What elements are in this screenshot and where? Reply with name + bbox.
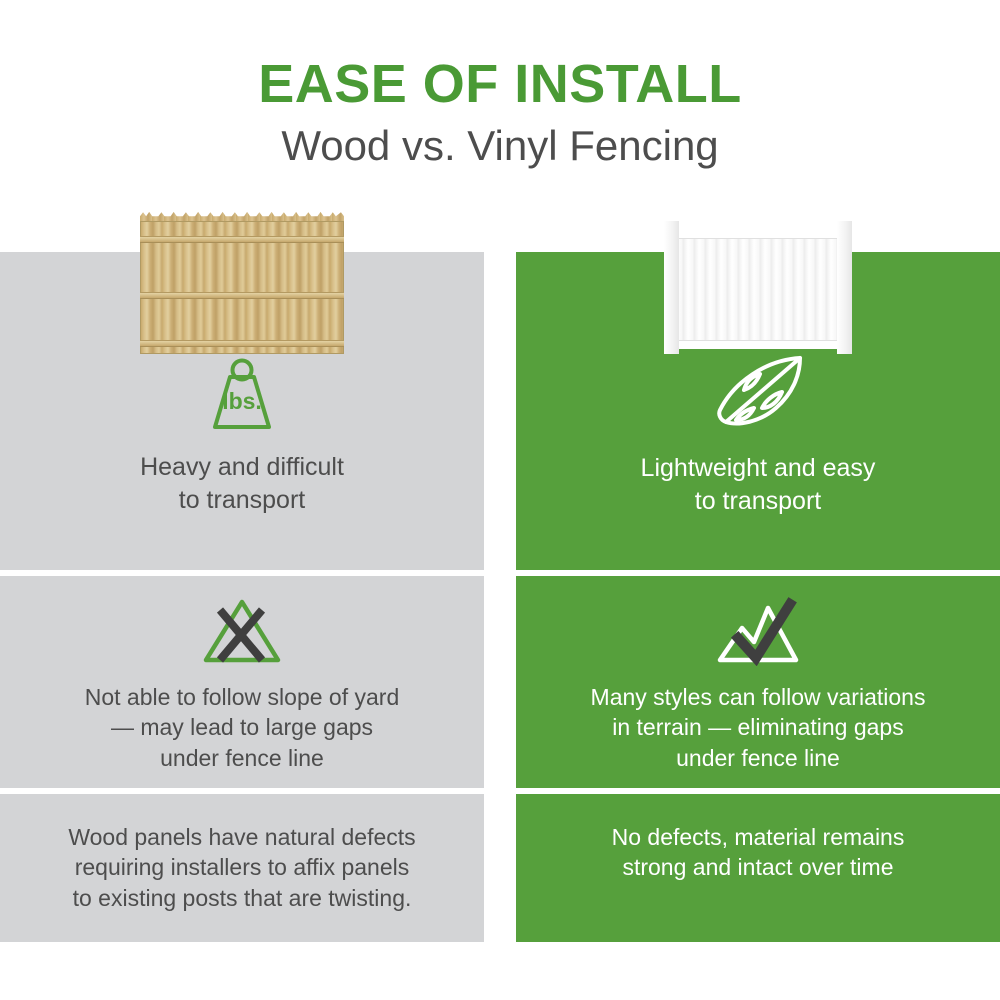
wood-row-2: Not able to follow slope of yard — may l… — [0, 576, 484, 788]
mountain-check-icon — [712, 594, 804, 666]
wood-row-3: Wood panels have natural defects requiri… — [0, 794, 484, 942]
column-wood: lbs. Heavy and difficult to transport No… — [0, 252, 484, 942]
vinyl-row-2-text: Many styles can follow variations in ter… — [591, 682, 926, 773]
infographic-page: EASE OF INSTALL Wood vs. Vinyl Fencing l… — [0, 0, 1000, 1000]
column-vinyl: Lightweight and easy to transport Many s… — [516, 252, 1000, 942]
feather-icon — [704, 352, 812, 434]
vinyl-row-3: No defects, material remains strong and … — [516, 794, 1000, 942]
page-subtitle: Wood vs. Vinyl Fencing — [0, 123, 1000, 169]
page-title: EASE OF INSTALL — [0, 56, 1000, 113]
vinyl-row-3-text: No defects, material remains strong and … — [612, 822, 905, 883]
vinyl-row-1-text: Lightweight and easy to transport — [641, 452, 876, 518]
header: EASE OF INSTALL Wood vs. Vinyl Fencing — [0, 0, 1000, 169]
wood-row-1-text: Heavy and difficult to transport — [140, 451, 344, 517]
wood-row-3-text: Wood panels have natural defects requiri… — [68, 822, 415, 913]
wood-row-1: lbs. Heavy and difficult to transport — [0, 252, 484, 570]
weight-icon-label: lbs. — [222, 388, 262, 414]
vinyl-post-cap-right — [833, 211, 856, 221]
wood-rail-top — [140, 236, 344, 243]
triangle-x-icon — [200, 594, 284, 666]
weight-lbs-icon: lbs. — [203, 357, 281, 433]
vinyl-row-2: Many styles can follow variations in ter… — [516, 576, 1000, 788]
vinyl-rail-top — [676, 230, 840, 239]
wood-row-2-text: Not able to follow slope of yard — may l… — [85, 682, 400, 773]
vinyl-row-1: Lightweight and easy to transport — [516, 252, 1000, 570]
vinyl-post-cap-left — [660, 211, 683, 221]
